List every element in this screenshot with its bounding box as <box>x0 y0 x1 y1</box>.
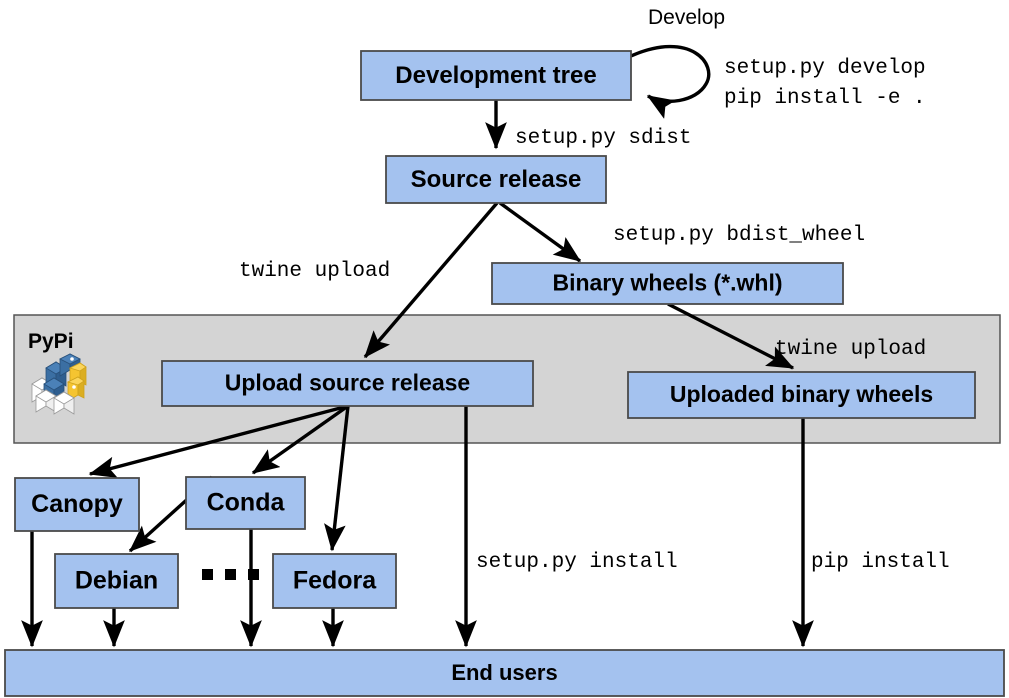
node-debian-label: Debian <box>75 567 158 595</box>
edge-label-twine-upload-source: twine upload <box>239 260 390 283</box>
packaging-flow-diagram: PyPi <box>0 0 1009 698</box>
edge-label-setup-bdist-wheel: setup.py bdist_wheel <box>613 224 865 247</box>
node-development-tree[interactable]: Development tree <box>361 51 631 100</box>
ellipsis-dot <box>248 569 259 580</box>
node-development-tree-label: Development tree <box>395 62 596 89</box>
node-conda-label: Conda <box>207 489 286 517</box>
more-distros-ellipsis <box>202 569 259 580</box>
node-canopy-label: Canopy <box>31 490 123 518</box>
edge-label-setup-sdist: setup.py sdist <box>515 127 691 150</box>
edge-sourcerelease-to-binarywheels <box>500 203 580 261</box>
node-fedora-label: Fedora <box>293 567 377 595</box>
edge-label-setup-install: setup.py install <box>476 551 678 574</box>
ellipsis-dot <box>202 569 213 580</box>
node-source-release-label: Source release <box>411 166 582 193</box>
node-fedora[interactable]: Fedora <box>273 554 396 608</box>
edge-label-pip-install-e: pip install -e . <box>724 87 926 110</box>
edge-label-develop: Develop <box>648 6 725 29</box>
edge-label-twine-upload-wheels: twine upload <box>775 338 926 361</box>
node-binary-wheels-label: Binary wheels (*.whl) <box>552 270 782 296</box>
node-upload-source-release[interactable]: Upload source release <box>162 361 533 406</box>
node-source-release[interactable]: Source release <box>386 156 606 203</box>
node-end-users[interactable]: End users <box>5 650 1004 696</box>
node-end-users-label: End users <box>451 660 557 685</box>
node-debian[interactable]: Debian <box>55 554 178 608</box>
ellipsis-dot <box>225 569 236 580</box>
edge-label-pip-install: pip install <box>811 551 950 574</box>
edge-label-setup-develop: setup.py develop <box>724 57 926 80</box>
node-uploaded-binary-wheels[interactable]: Uploaded binary wheels <box>628 372 975 418</box>
node-binary-wheels[interactable]: Binary wheels (*.whl) <box>492 263 843 304</box>
node-conda[interactable]: Conda <box>186 477 305 529</box>
diagram-canvas: PyPi <box>0 0 1009 698</box>
node-uploaded-binary-wheels-label: Uploaded binary wheels <box>670 381 933 407</box>
edge-develop-selfloop <box>631 47 709 102</box>
node-canopy[interactable]: Canopy <box>15 478 139 531</box>
pypi-group-label: PyPi <box>28 330 74 353</box>
node-upload-source-release-label: Upload source release <box>225 370 470 396</box>
